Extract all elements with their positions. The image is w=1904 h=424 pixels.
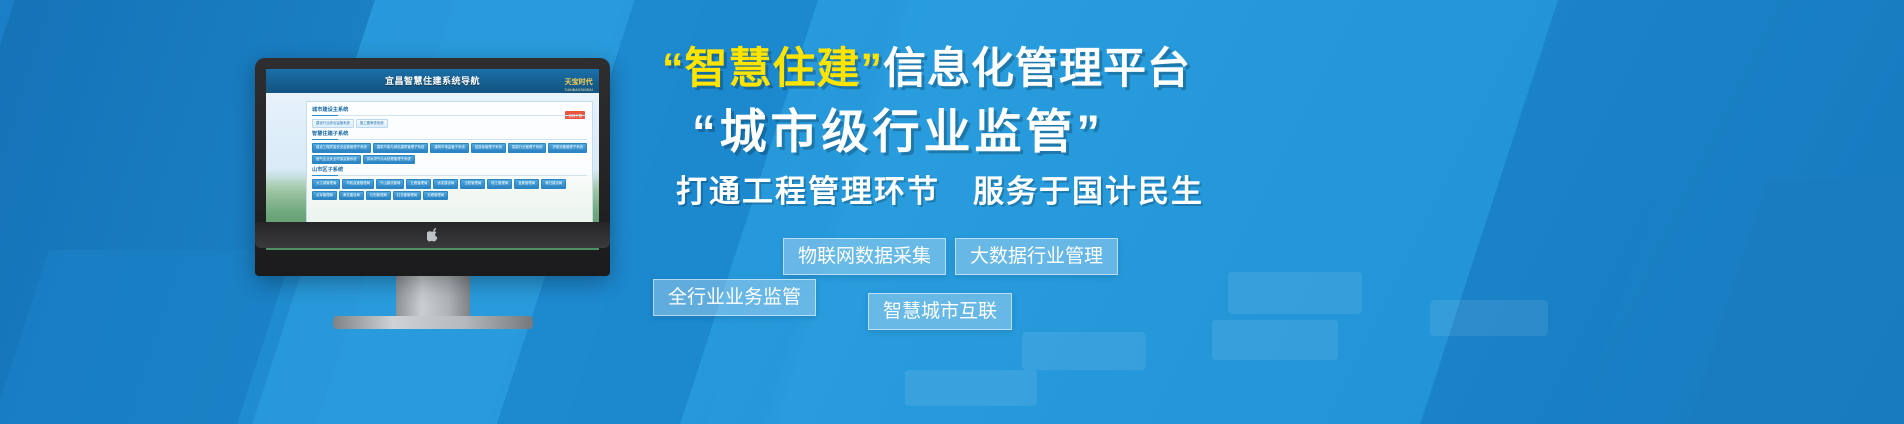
nav-chip[interactable]: 秭归建设局	[541, 179, 566, 188]
nav-chip[interactable]: 施工图审查系统	[356, 119, 388, 128]
apple-logo-icon	[427, 228, 439, 242]
brand-pinyin: TIANBAOSHIDAI	[564, 89, 593, 92]
nav-chip[interactable]: 枝江管理局	[487, 179, 512, 188]
nav-chip[interactable]: 供水供气污水处理管理子系统	[363, 155, 415, 164]
headline-rest: 信息化管理平台	[883, 45, 1191, 93]
nav-chip[interactable]: 黄花建设局	[339, 191, 364, 200]
nav-chip[interactable]: 点军管理局	[312, 191, 337, 200]
nav-chip-group: 建设工程质量安全监管管理子系统 建筑节能与绿色建筑管理子系统 建筑市场监管子系统…	[312, 143, 587, 164]
monitor-stand-neck	[396, 270, 470, 322]
headline-line-2: “城市级行业监管”	[692, 108, 1104, 155]
nav-chip[interactable]: 建筑节能与绿色建筑管理子系统	[373, 143, 428, 152]
monitor-stand-base	[333, 316, 533, 329]
monitor-mockup: 宜昌智慧住建系统导航 天宝时代 TIANBAOSHIDAI 资料下载 城市建设主…	[255, 58, 610, 330]
bg-facet-5	[1350, 0, 1904, 424]
app-screen-title: 宜昌智慧住建系统导航	[266, 74, 599, 87]
nav-chip[interactable]: 红花套管理局	[393, 191, 421, 200]
headline-line-3: 打通工程管理环节 服务于国计民生	[676, 176, 1204, 207]
nav-section-title: 山市区子系统	[312, 166, 587, 176]
monitor-bezel: 宜昌智慧住建系统导航 天宝时代 TIANBAOSHIDAI 资料下载 城市建设主…	[255, 58, 610, 276]
feature-tag-iot[interactable]: 物联网数据采集	[783, 238, 946, 275]
nav-chip-group: 大江城管理局 市政监管管理局 兴山建设管局 五峰管理局 远安建设局 当阳管理局 …	[312, 179, 587, 200]
nav-chip[interactable]: 智能行业管理子系统	[508, 143, 547, 152]
nav-chip[interactable]: 大江城管理局	[312, 179, 340, 188]
nav-chip[interactable]: 燃气企业安全环保监管系统	[312, 155, 361, 164]
brand-name: 天宝时代	[565, 79, 593, 86]
nav-chip[interactable]: 五峰管理局	[406, 179, 431, 188]
nav-chip[interactable]: 建筑市场监管子系统	[430, 143, 469, 152]
bg-blob-3	[1212, 320, 1338, 360]
feature-tag-all-business[interactable]: 全行业业务监管	[653, 279, 816, 316]
nav-section-title: 智慧住建子系统	[312, 130, 587, 140]
nav-chip[interactable]: 五峰管理局	[423, 191, 448, 200]
nav-section-title: 城市建设主系统	[312, 106, 587, 116]
nav-chip[interactable]: 当阳管理局	[460, 179, 485, 188]
nav-chip-group: 建设行业综合监管系统 施工图审查系统	[312, 119, 587, 128]
feature-tag-bigdata[interactable]: 大数据行业管理	[955, 238, 1118, 275]
nav-chip[interactable]: 宜都管理局	[514, 179, 539, 188]
headline-line-1: “智慧住建”信息化管理平台	[662, 48, 1191, 91]
nav-section-smart: 智慧住建子系统 建设工程质量安全监管管理子系统 建筑节能与绿色建筑管理子系统 建…	[312, 130, 587, 164]
bg-blob-1	[1022, 332, 1146, 370]
promo-banner: 宜昌智慧住建系统导航 天宝时代 TIANBAOSHIDAI 资料下载 城市建设主…	[0, 0, 1904, 424]
app-brand-logo: 天宝时代 TIANBAOSHIDAI	[564, 72, 593, 92]
nav-chip[interactable]: 兴山建设管局	[376, 179, 404, 188]
nav-chip[interactable]: 远安建设局	[433, 179, 458, 188]
nav-chip[interactable]: 招投标管理子系统	[471, 143, 506, 152]
nav-chip[interactable]: 市政监管管理局	[342, 179, 374, 188]
bg-facet-6	[1632, 180, 1904, 424]
headline-highlight: “智慧住建”	[662, 45, 883, 93]
bg-blob-5	[1430, 300, 1548, 336]
nav-chip[interactable]: 建设行业综合监管系统	[312, 119, 354, 128]
nav-chip[interactable]: 长阳管理局	[366, 191, 391, 200]
app-screen-header: 宜昌智慧住建系统导航 天宝时代 TIANBAOSHIDAI	[266, 69, 599, 93]
nav-chip[interactable]: 建设工程质量安全监管管理子系统	[312, 143, 371, 152]
nav-chip[interactable]: 护航设备管理子系统	[548, 143, 587, 152]
nav-section-main: 城市建设主系统 建设行业综合监管系统 施工图审查系统	[312, 106, 587, 128]
bg-blob-4	[905, 370, 1037, 406]
nav-section-district: 山市区子系统 大江城管理局 市政监管管理局 兴山建设管局 五峰管理局 远安建设局…	[312, 166, 587, 200]
feature-tag-smart-city[interactable]: 智慧城市互联	[868, 293, 1012, 330]
